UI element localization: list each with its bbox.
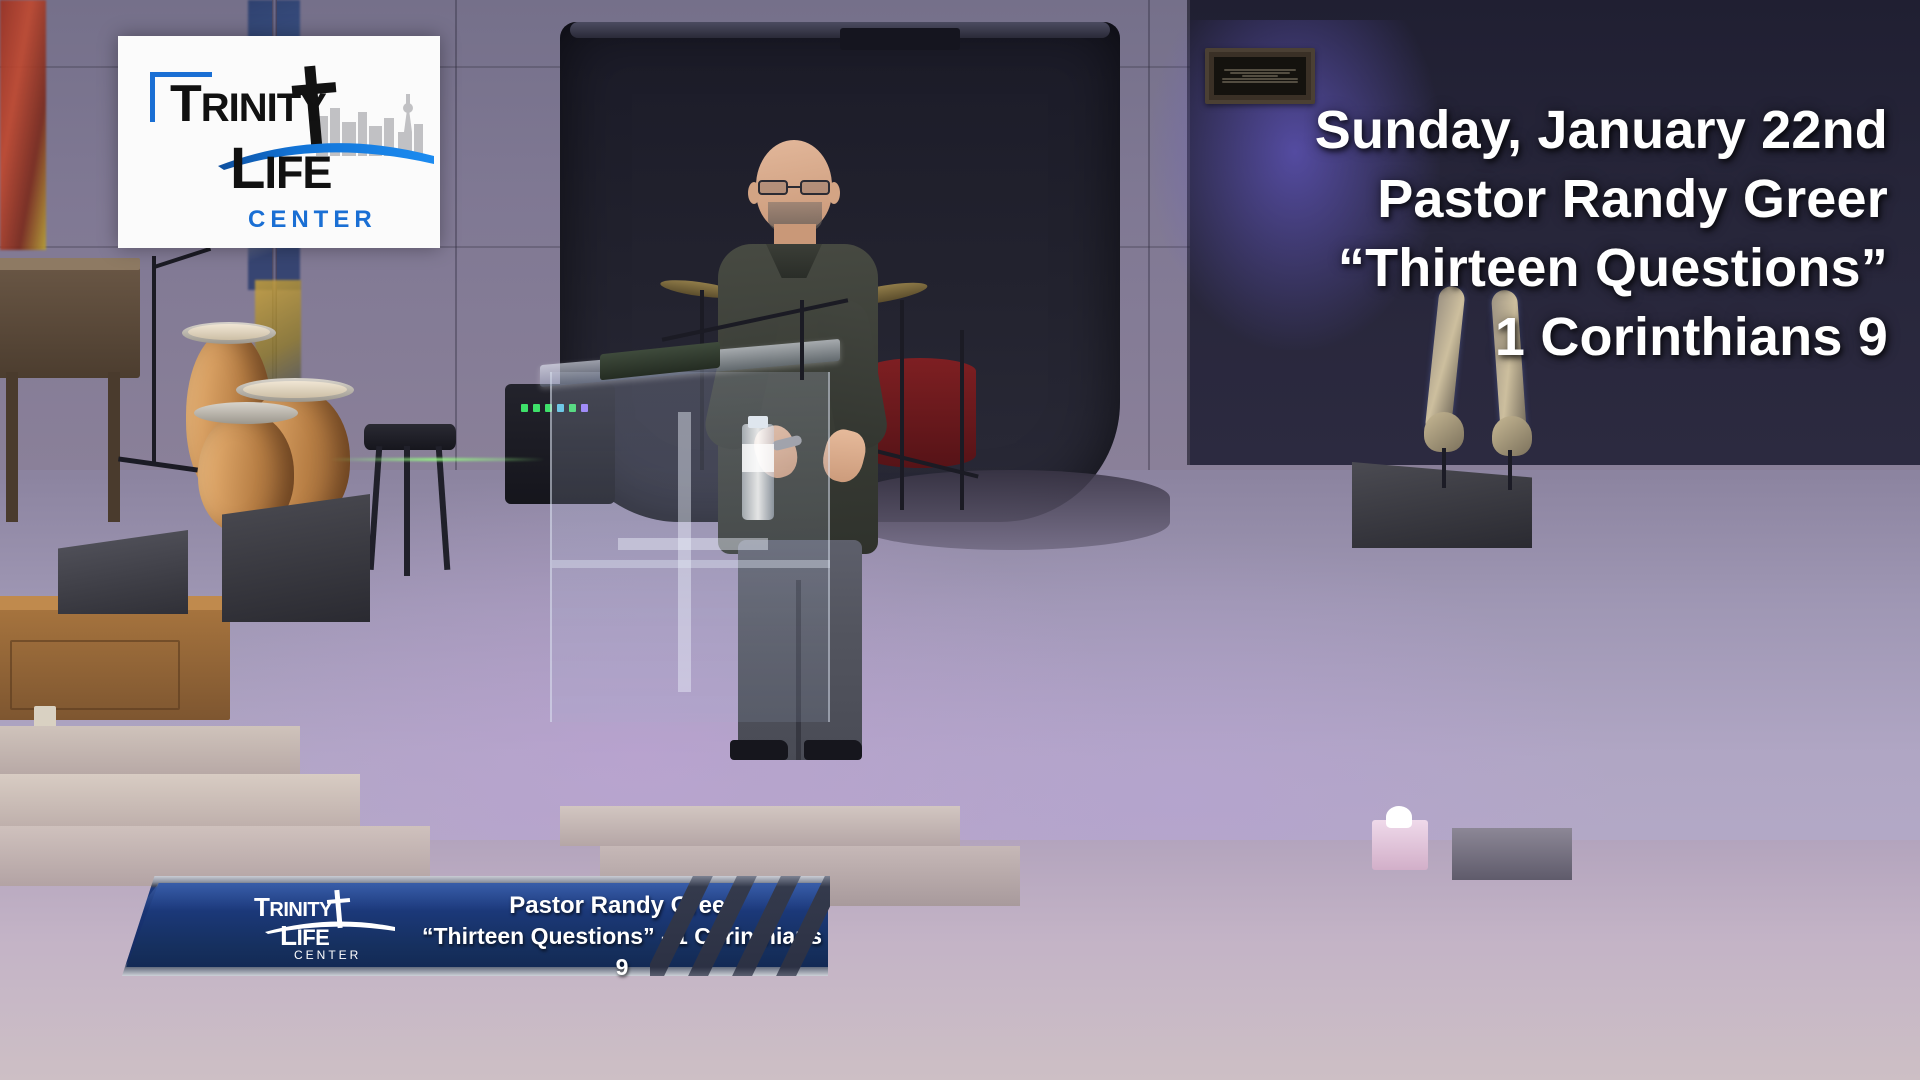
projection-screen: TRINITY LIFE CENTER xyxy=(118,36,440,248)
acrylic-podium xyxy=(540,352,840,722)
podium-cross-arm xyxy=(618,538,768,550)
logo-word-trinity: TRINITY xyxy=(170,78,326,130)
podium-shelf xyxy=(552,560,830,568)
floor-box xyxy=(1452,828,1572,880)
organ-top xyxy=(0,258,140,270)
water-bottle xyxy=(742,424,774,520)
saxophone-bell xyxy=(1424,412,1464,452)
lower-third-banner: TRINITY LIFE CENTER Pastor Randy Greer “… xyxy=(122,876,828,976)
microphone-stand xyxy=(152,256,156,466)
podium-microphone-stand xyxy=(800,300,804,380)
eyeglasses xyxy=(758,180,830,196)
shoe xyxy=(730,740,788,760)
tissue xyxy=(1386,806,1412,828)
logo-word-center: CENTER xyxy=(248,206,377,234)
stage-monitor-wedge xyxy=(222,494,370,622)
organ-leg xyxy=(108,372,120,522)
shoe xyxy=(804,740,862,760)
overlay-line-title: “Thirteen Questions” xyxy=(988,234,1888,303)
organ-leg xyxy=(6,372,18,522)
cymbal-stand xyxy=(960,330,964,510)
stage-monitor-wedge xyxy=(58,530,188,614)
overlay-line-date: Sunday, January 22nd xyxy=(988,96,1888,165)
wood-cabinet-panel xyxy=(10,640,180,710)
bar-stool-leg xyxy=(404,446,410,576)
conga-head xyxy=(188,324,270,340)
green-laser-beam xyxy=(330,458,545,461)
lower-third-logo: TRINITY LIFE CENTER xyxy=(242,890,402,962)
water-bottle-cap xyxy=(748,416,768,428)
sermon-info-overlay: Sunday, January 22nd Pastor Randy Greer … xyxy=(988,96,1888,372)
trinity-life-center-logo: TRINITY LIFE CENTER xyxy=(118,36,440,248)
lower-third-stripes xyxy=(650,876,830,976)
lt-logo-word-center: CENTER xyxy=(294,948,361,962)
stage-step xyxy=(0,774,360,826)
wall-plaque-inscription xyxy=(1214,57,1306,95)
saxophone-stand xyxy=(1508,450,1512,490)
overlay-line-scripture: 1 Corinthians 9 xyxy=(988,303,1888,372)
wall-seam xyxy=(455,0,457,470)
conga-rim xyxy=(194,402,298,424)
podium-cross xyxy=(678,412,691,692)
water-bottle-label xyxy=(742,444,774,472)
riser-top-box xyxy=(840,28,960,50)
saxophone-bell xyxy=(1492,416,1532,456)
overlay-line-speaker: Pastor Randy Greer xyxy=(988,165,1888,234)
stage-step xyxy=(560,806,960,846)
red-banner-flag xyxy=(0,0,46,250)
organ-cabinet xyxy=(0,258,140,378)
stage-step xyxy=(0,726,300,774)
video-frame: TRINITY LIFE CENTER Sunday, January 22nd… xyxy=(0,0,1920,1080)
saxophone-stand xyxy=(1442,448,1446,488)
logo-word-life: LIFE xyxy=(230,140,331,198)
conga-head xyxy=(243,381,347,398)
